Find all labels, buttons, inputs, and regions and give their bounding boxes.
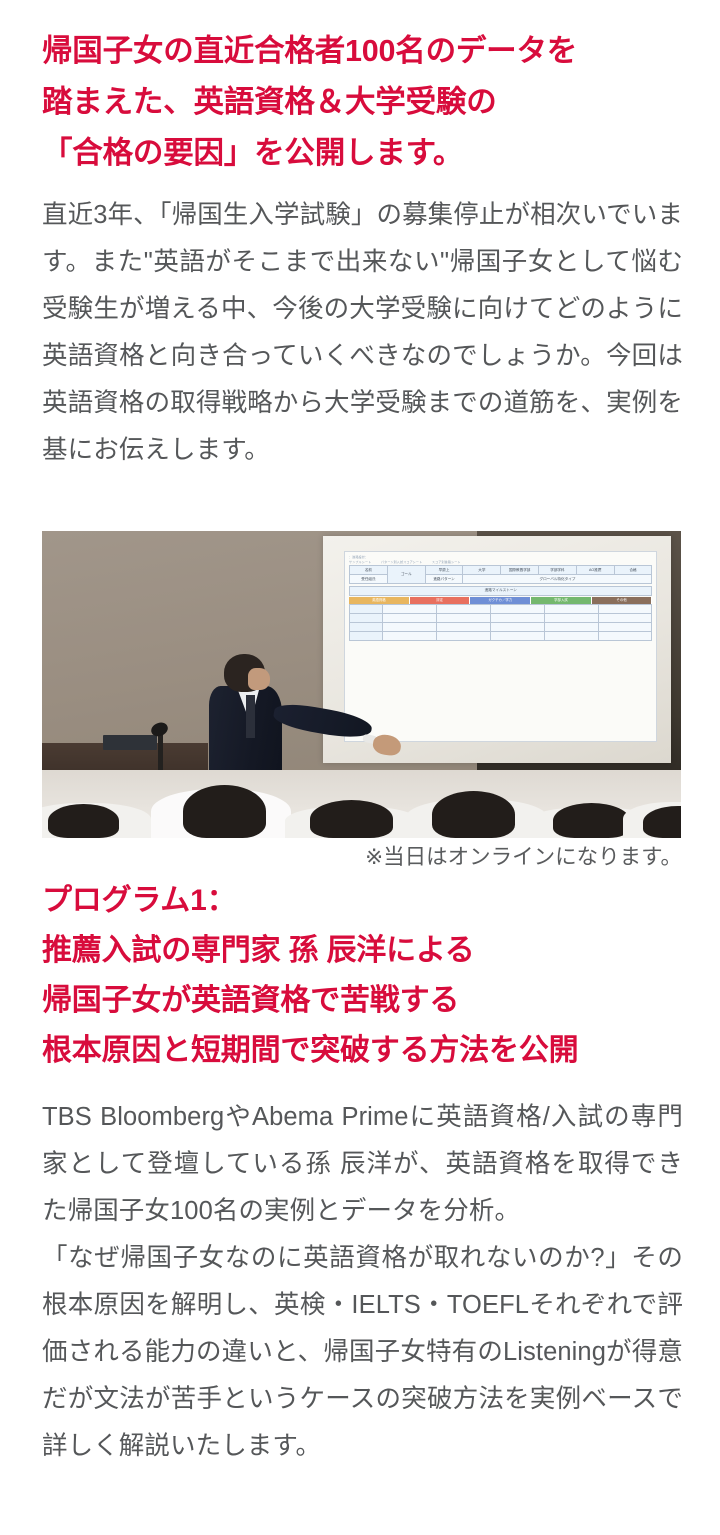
program-heading-line-4: 根本原因と短期間で突破する方法を公開 [42,1026,687,1076]
slide-sub-cell: グローバル特化タイプ [463,575,652,584]
program-body-paragraph-2: 「なぜ帰国子女なのに英語資格が取れないのか?」その根本原因を解明し、英検・IEL… [42,1235,683,1470]
slide-sub-cell: 受任組氏 [350,575,388,584]
slide-milestone-title: 進路マイルストーン [350,586,652,595]
presenter-tie [246,695,256,738]
audience-head [183,785,266,838]
audience-head [310,800,393,838]
headline-line-2: 踏まえた、英語資格＆大学受験の [42,77,682,128]
slide-row [350,604,652,613]
slide-header-cell: 国際教養学部 [501,566,539,575]
slide-note-1: ：進路設計： [349,555,652,559]
program-heading-line-2: 推薦入試の専門家 孫 辰洋による [42,926,687,976]
program-heading: プログラム1： 推薦入試の専門家 孫 辰洋による 帰国子女が英語資格で苦戦する … [42,876,687,1076]
slide-sub-cell: 進路パターン [425,575,463,584]
slide-header-row: 名前 ゴール 早慶上 大学 国際教養学部 学部学科 AO推薦 合格 [350,566,652,575]
photo-caption: ※当日はオンラインになります。 [42,843,682,871]
presenter-face [248,668,270,690]
program-heading-line-1: プログラム1： [42,876,687,926]
audience-area [42,770,681,838]
slide-milestone-title-table: 進路マイルストーン [349,586,652,596]
slide-row [350,631,652,640]
slide-milestone-table [349,604,652,641]
slide-header-cell: AO推薦 [576,566,614,575]
slide-band-other: その他 [592,597,653,604]
projected-slide: ：進路設計： サンプルシート パターン別入試スコアシート スコア別進路シート 名… [344,551,657,742]
slide-band-exam: 学部入試 [531,597,592,604]
slide-row [350,622,652,631]
slide-header-cell: 名前 [350,566,388,575]
program-body-paragraph-1: TBS BloombergやAbema Primeに英語資格/入試の専門家として… [42,1094,683,1235]
headline-line-3: 「合格の要因」を公開します。 [42,128,682,179]
audience-head [48,804,118,838]
slide-header-cell: 合格 [614,566,652,575]
laptop [103,735,157,750]
slide-header-cell: 早慶上 [425,566,463,575]
slide-band-activity: ガクチカ／学力 [470,597,531,604]
slide-note-2: サンプルシート パターン別入試スコアシート スコア別進路シート [349,560,652,564]
headline-line-1: 帰国子女の直近合格者100名のデータを [42,26,682,77]
mic-stand [158,731,162,774]
slide-header-cell: ゴール [387,566,425,584]
slide-band-english: 英語資格 [349,597,410,604]
page-headline: 帰国子女の直近合格者100名のデータを 踏まえた、英語資格＆大学受験の 「合格の… [42,26,682,179]
audience-head [553,803,630,838]
intro-paragraph: 直近3年、「帰国生入学試験」の募集停止が相次いでいます。また"英語がそこまで出来… [42,192,683,474]
slide-milestone-title-row: 進路マイルストーン [350,586,652,595]
projection-screen: ：進路設計： サンプルシート パターン別入試スコアシート スコア別進路シート 名… [323,536,671,763]
audience-head [432,791,515,838]
slide-band-grade: 評定 [410,597,471,604]
slide-header-cell: 学部学科 [539,566,577,575]
slide-header-cell: 大学 [463,566,501,575]
slide-row [350,613,652,622]
seminar-photo: ：進路設計： サンプルシート パターン別入試スコアシート スコア別進路シート 名… [42,531,681,838]
program-body: TBS BloombergやAbema Primeに英語資格/入試の専門家として… [42,1094,683,1470]
landing-page: 帰国子女の直近合格者100名のデータを 踏まえた、英語資格＆大学受験の 「合格の… [0,0,720,1535]
slide-color-band: 英語資格 評定 ガクチカ／学力 学部入試 その他 [349,597,652,604]
program-heading-line-3: 帰国子女が英語資格で苦戦する [42,976,687,1026]
slide-header-table: 名前 ゴール 早慶上 大学 国際教養学部 学部学科 AO推薦 合格 受任組氏 進… [349,565,652,584]
